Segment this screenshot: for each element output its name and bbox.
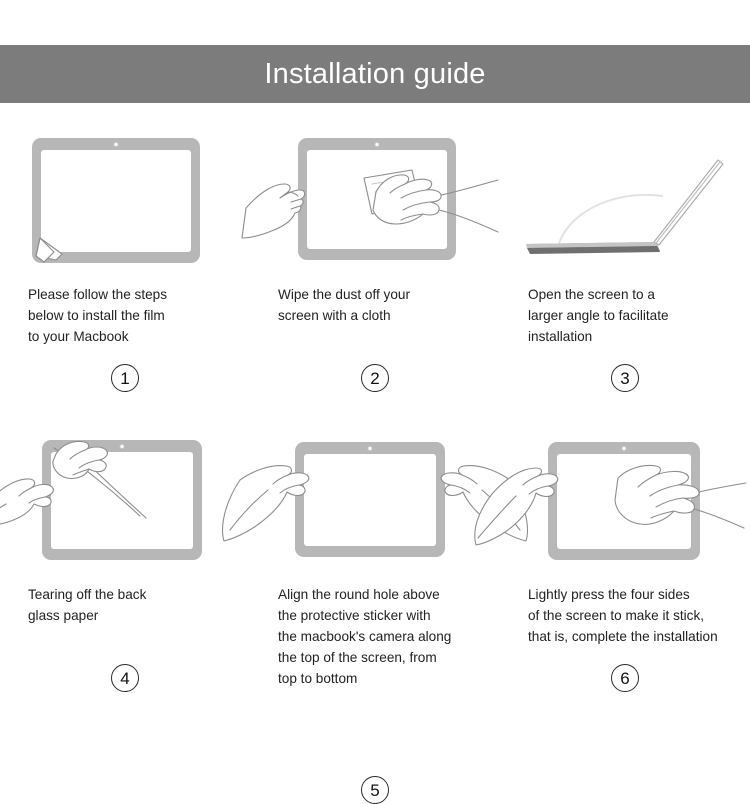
- hands-peeling-paper-icon: [10, 434, 240, 574]
- step-number-wrap: 6: [500, 664, 750, 692]
- step-number-badge: 5: [361, 776, 389, 804]
- step-number-wrap: 2: [250, 364, 500, 392]
- step-number-badge: 3: [611, 364, 639, 392]
- step-number-wrap: 3: [500, 364, 750, 392]
- header-bar: Installation guide: [0, 45, 750, 103]
- step-caption: Wipe the dust off your screen with a clo…: [260, 284, 490, 326]
- step-caption: Lightly press the four sides of the scre…: [510, 584, 740, 647]
- hands-wiping-cloth-icon: [260, 134, 490, 274]
- step-number-wrap: 5: [250, 776, 500, 804]
- step-caption: Tearing off the back glass paper: [10, 584, 240, 626]
- step-panel-5: Align the round hole above the protectiv…: [250, 420, 500, 720]
- page-title: Installation guide: [264, 60, 485, 89]
- step-panel-2: Wipe the dust off your screen with a clo…: [250, 120, 500, 420]
- step-5-illustration: [260, 434, 490, 574]
- steps-grid: Please follow the steps below to install…: [0, 120, 750, 720]
- step-6-illustration: [510, 434, 740, 574]
- step-panel-3: Open the screen to a larger angle to fac…: [500, 120, 750, 420]
- step-number-badge: 6: [611, 664, 639, 692]
- step-panel-4: Tearing off the back glass paper 4: [0, 420, 250, 720]
- step-number-badge: 1: [111, 364, 139, 392]
- step-number-badge: 2: [361, 364, 389, 392]
- laptop-side-view-icon: [510, 134, 740, 274]
- step-2-illustration: [260, 134, 490, 274]
- step-number-wrap: 4: [0, 664, 250, 692]
- step-3-illustration: [510, 134, 740, 274]
- step-1-illustration: [10, 134, 240, 274]
- step-caption: Open the screen to a larger angle to fac…: [510, 284, 740, 347]
- step-caption: Align the round hole above the protectiv…: [260, 584, 490, 689]
- hand-pressing-screen-icon: [510, 434, 740, 574]
- step-4-illustration: [10, 434, 240, 574]
- step-panel-1: Please follow the steps below to install…: [0, 120, 250, 420]
- step-number-wrap: 1: [0, 364, 250, 392]
- peeling-film-corner-icon: [10, 134, 240, 274]
- step-caption: Please follow the steps below to install…: [10, 284, 240, 347]
- step-number-badge: 4: [111, 664, 139, 692]
- two-hands-aligning-film-icon: [260, 434, 490, 574]
- step-panel-6: Lightly press the four sides of the scre…: [500, 420, 750, 720]
